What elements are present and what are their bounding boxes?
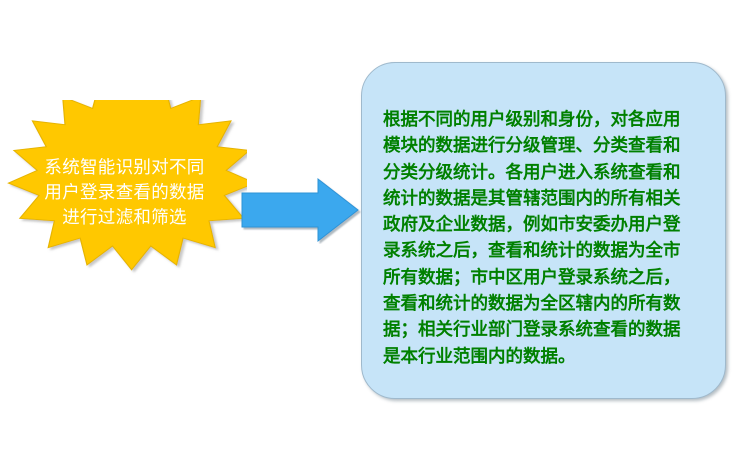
starburst-callout[interactable]: 系统智能识别对不同 用户登录查看的数据 进行过滤和筛选 [2, 100, 247, 296]
information-panel-text: 根据不同的用户级别和身份，对各应用 模块的数据进行分级管理、分类查看和 分类分级… [383, 107, 713, 370]
starburst-shape-icon [2, 100, 247, 296]
right-arrow-icon [239, 176, 361, 244]
flow-arrow[interactable] [239, 176, 361, 244]
slide-canvas: 系统智能识别对不同 用户登录查看的数据 进行过滤和筛选 根据不同的用户级别和身份… [0, 0, 739, 476]
information-panel[interactable]: 根据不同的用户级别和身份，对各应用 模块的数据进行分级管理、分类查看和 分类分级… [361, 62, 726, 399]
